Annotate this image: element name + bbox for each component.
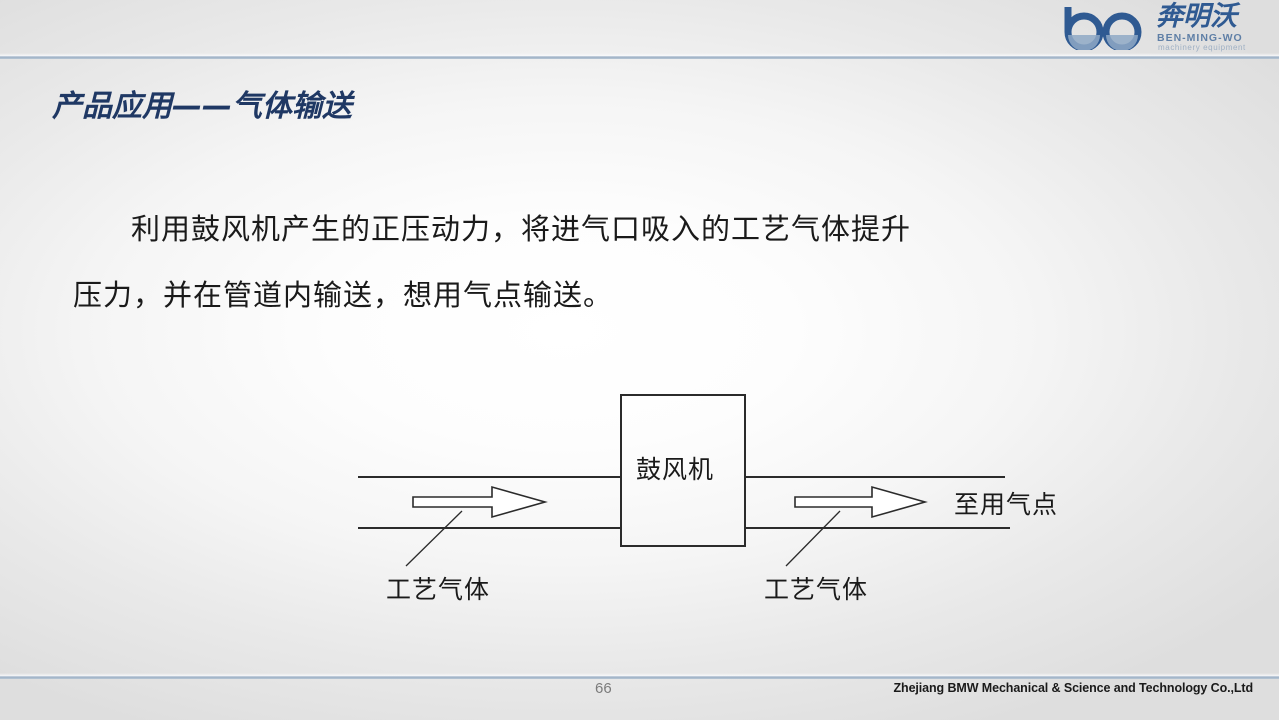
footer-divider — [0, 676, 1279, 679]
presentation-slide: 奔明沃 BEN-MING-WO machinery equipment 产品应用… — [0, 0, 1279, 720]
footer-company-name: Zhejiang BMW Mechanical & Science and Te… — [894, 681, 1254, 695]
inlet-gas-label: 工艺气体 — [386, 570, 490, 606]
page-number: 66 — [595, 680, 612, 697]
leader-line-inlet — [406, 511, 462, 566]
bo-monogram-icon — [1058, 5, 1154, 50]
flow-arrow-outlet — [795, 487, 925, 517]
logo-name-zh: 奔明沃 — [1156, 2, 1237, 32]
page-title: 产品应用——气体输送 — [52, 81, 352, 125]
leader-line-outlet — [786, 511, 840, 566]
header-divider — [0, 56, 1279, 59]
blower-label: 鼓风机 — [636, 450, 714, 486]
destination-label: 至用气点 — [954, 485, 1058, 521]
body-line-2: 压力，并在管道内输送，想用气点输送。 — [73, 262, 1083, 328]
body-line-1: 利用鼓风机产生的正压动力，将进气口吸入的工艺气体提升 — [73, 196, 1083, 262]
outlet-gas-label: 工艺气体 — [764, 570, 868, 606]
flow-arrow-inlet — [413, 487, 545, 517]
body-paragraph: 利用鼓风机产生的正压动力，将进气口吸入的工艺气体提升 压力，并在管道内输送，想用… — [73, 196, 1083, 328]
company-logo: 奔明沃 BEN-MING-WO machinery equipment — [1056, 2, 1271, 54]
logo-tagline: machinery equipment — [1158, 43, 1246, 52]
